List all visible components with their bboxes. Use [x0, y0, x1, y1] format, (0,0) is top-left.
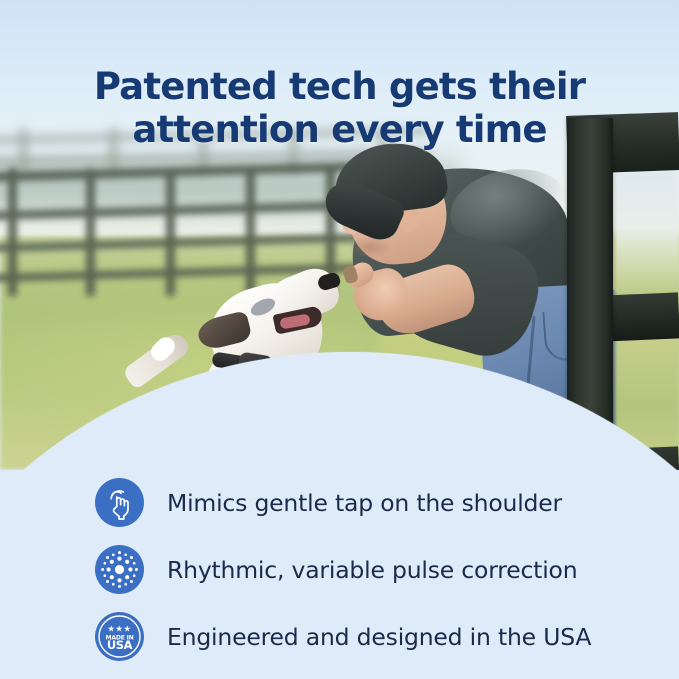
headline-line-2: attention every time	[64, 109, 615, 152]
tap-hand-icon	[95, 478, 144, 527]
page-title: Patented tech gets their attention every…	[0, 66, 679, 152]
list-item-label: Engineered and designed in the USA	[167, 623, 591, 651]
headline-line-1: Patented tech gets their	[64, 66, 615, 109]
list-item: Rhythmic, variable pulse correction	[0, 537, 679, 602]
list-item-label: Rhythmic, variable pulse correction	[167, 556, 577, 584]
list-item: Mimics gentle tap on the shoulder	[0, 470, 679, 535]
fence-gap-upper	[615, 170, 679, 298]
man-chin-shadow	[348, 236, 392, 258]
list-item-label: Mimics gentle tap on the shoulder	[167, 489, 562, 517]
product-feature-card: Patented tech gets their attention every…	[0, 0, 679, 679]
pulse-burst-icon	[95, 545, 144, 594]
list-item: ★★★ MADE IN USA Engineered and designed …	[0, 604, 679, 669]
feature-list: Mimics gentle tap on the shoulder	[0, 470, 679, 671]
badge-line-2: USA	[107, 638, 133, 652]
badge-stars: ★★★	[107, 624, 131, 634]
made-in-usa-badge-icon: ★★★ MADE IN USA	[95, 612, 144, 661]
